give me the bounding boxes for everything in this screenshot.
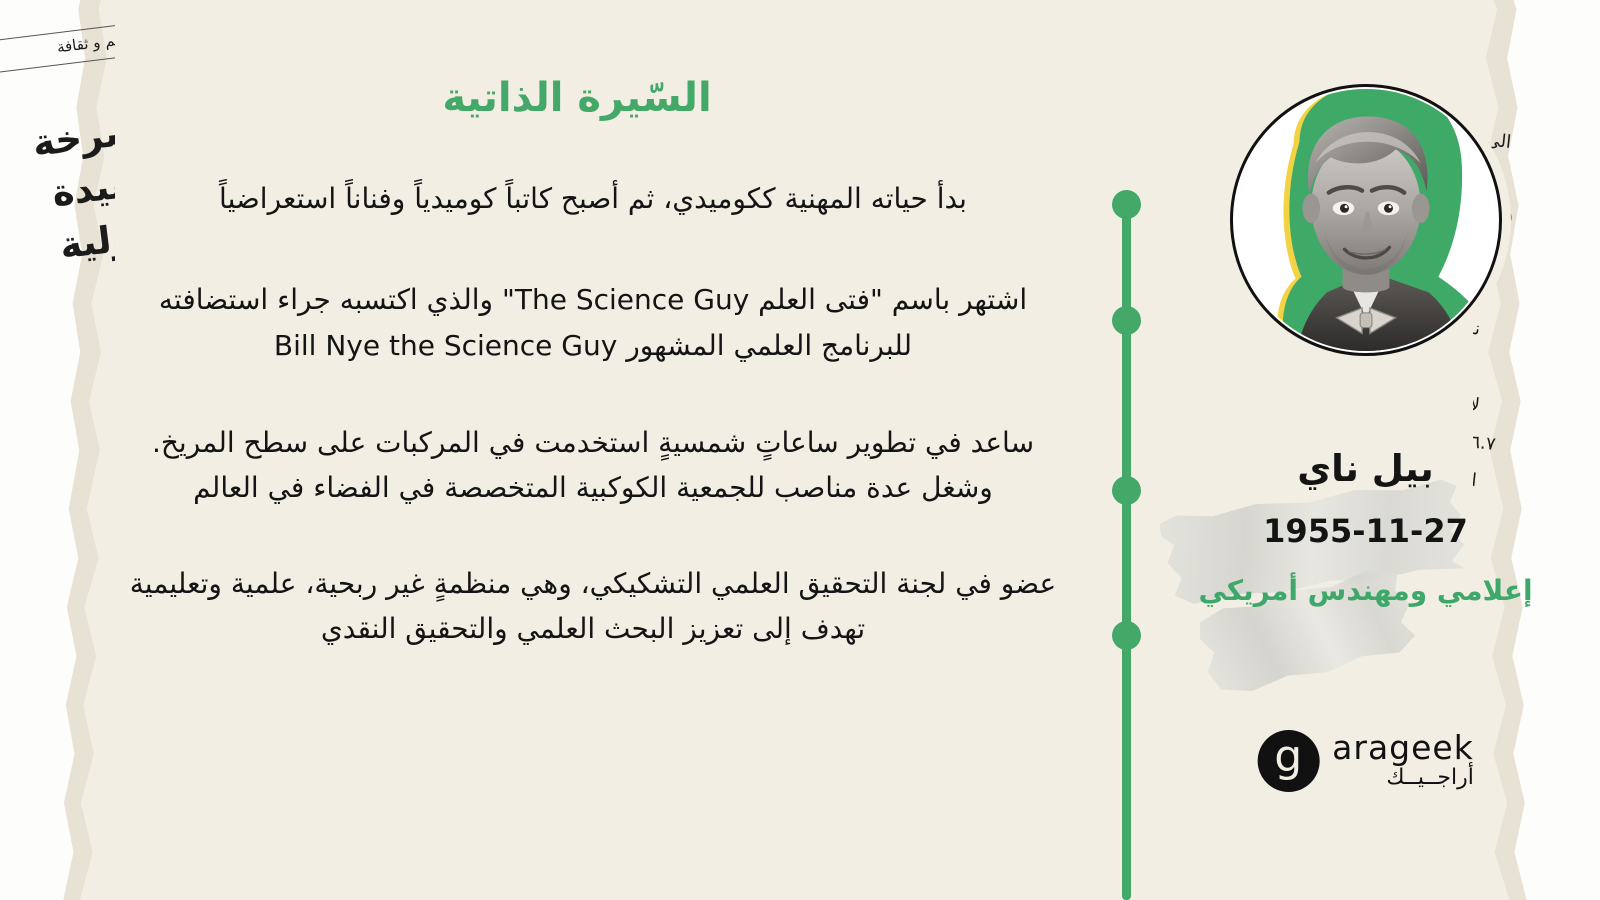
avatar bbox=[1230, 84, 1502, 356]
bullet-csi-committee: عضو في لجنة التحقيق العلمي التشكيكي، وهي… bbox=[124, 561, 1062, 652]
bullet-career-start: بدأ حياته المهنية ككوميدي، ثم أصبح كاتبا… bbox=[124, 176, 1062, 221]
person-name: بيل ناي bbox=[1131, 447, 1600, 490]
person-birth-date: 1955-11-27 bbox=[1131, 512, 1600, 550]
bullet-science-guy: اشتهر باسم "فتى العلم The Science Guy" و… bbox=[124, 277, 1062, 368]
arageek-logo-latin: arageek bbox=[1332, 731, 1474, 764]
profile-panel: بيل ناي 1955-11-27 إعلامي ومهندس أمريكي … bbox=[1131, 0, 1600, 900]
bullet-solar-sails: ساعد في تطوير ساعاتٍ شمسيةٍ استخدمت في ا… bbox=[124, 420, 1062, 511]
bill-nye-portrait-illustration bbox=[1233, 87, 1499, 353]
arageek-logo[interactable]: g arageek أراجــيــك bbox=[1257, 730, 1474, 792]
biography-poster: علم و ثقافة صرخة سيدة دولية للرسـ خ ا تص… bbox=[0, 0, 1600, 900]
timeline-line bbox=[1122, 196, 1131, 900]
biography-bullet-list: بدأ حياته المهنية ككوميدي، ثم أصبح كاتبا… bbox=[124, 176, 1062, 698]
person-role: إعلامي ومهندس أمريكي bbox=[1131, 572, 1600, 611]
arageek-logo-text: arageek أراجــيــك bbox=[1332, 731, 1474, 790]
arageek-logo-arabic: أراجــيــك bbox=[1332, 766, 1474, 790]
main-content: السّيرة الذاتية بدأ حياته المهنية ككوميد… bbox=[0, 0, 1122, 900]
arageek-logo-mark-icon: g bbox=[1257, 730, 1319, 792]
avatar-ring bbox=[1230, 84, 1502, 356]
page-title: السّيرة الذاتية bbox=[0, 75, 1122, 121]
